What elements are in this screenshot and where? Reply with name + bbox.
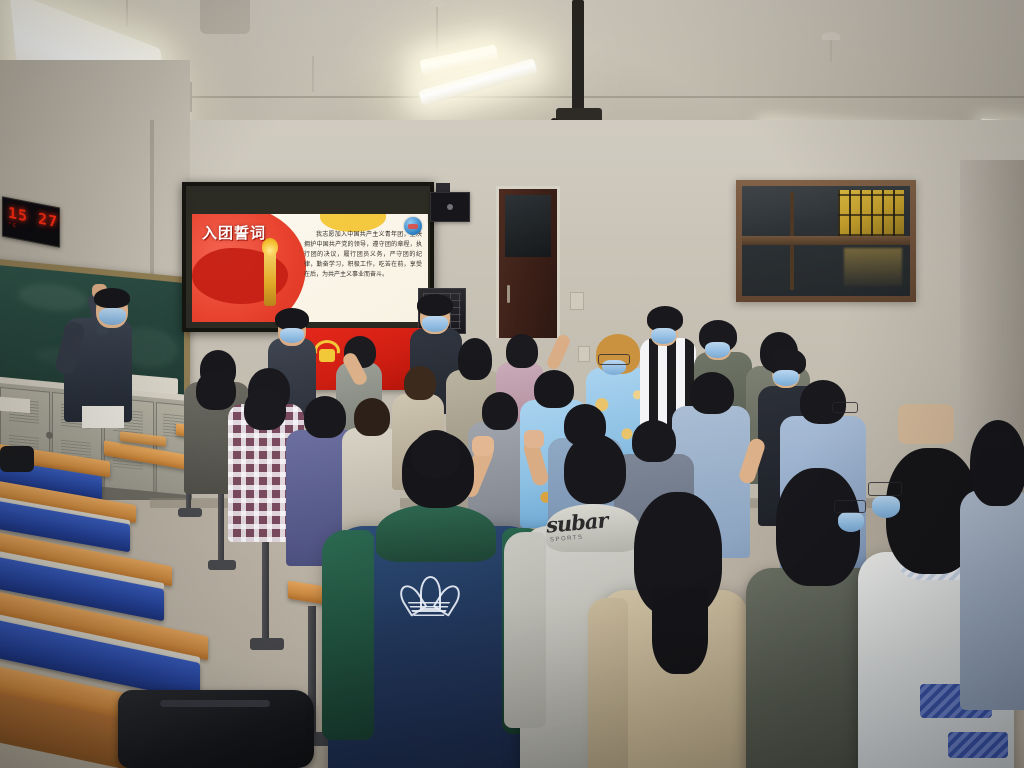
desk-foot: [178, 508, 202, 517]
backpack-zipper: [160, 700, 270, 707]
slide-oath-text: 我志愿加入中国共产主义青年团，坚决拥护中国共产党的领导，遵守团的章程，执行团的决…: [304, 230, 422, 280]
screen-surface: 入团誓词 我志愿加入中国共产主义青年团，坚决拥护中国共产党的领导，遵守团的章程，…: [186, 186, 430, 328]
light-cap: [822, 32, 840, 40]
light-cap: [430, 0, 444, 7]
jacket-hood: [376, 504, 496, 562]
student-hair-ponytail: [354, 398, 390, 436]
slide-torch: [264, 248, 276, 306]
bag-on-desk: [0, 446, 34, 472]
youth-league-emblem-icon: [404, 217, 422, 235]
student-hair: [970, 420, 1024, 506]
classroom-photo: EPSON 15 27 °C: [0, 0, 1024, 768]
jacket-green-sleeve-left: [322, 530, 374, 740]
classroom-door[interactable]: [499, 189, 557, 338]
student-hair: [632, 420, 676, 462]
slide-title: 入团誓词: [202, 222, 266, 243]
face-mask: [422, 316, 448, 332]
hair-ponytail: [652, 588, 708, 674]
student-hair: [304, 396, 346, 438]
door-handle[interactable]: [507, 285, 510, 303]
student-jacket: [960, 490, 1024, 710]
face-mask: [838, 512, 864, 532]
jacket-sleeve-left: [504, 532, 546, 728]
desk-foot: [250, 638, 284, 650]
face-mask: [651, 328, 676, 344]
student-shoulder: [898, 404, 954, 444]
student-hair: [506, 334, 538, 368]
coat-sleeve-left: [588, 598, 628, 768]
windbreaker-blue-panel: [948, 732, 1008, 758]
glasses: [868, 482, 902, 496]
light-stem: [126, 0, 128, 26]
clock-unit: °C: [8, 222, 18, 230]
student-hair: [412, 430, 460, 478]
wall-speaker: [430, 192, 470, 222]
classroom-door-frame: [496, 186, 560, 338]
light-stem: [436, 4, 438, 54]
window-rail: [742, 236, 910, 245]
glasses: [834, 500, 866, 513]
glasses: [832, 402, 858, 413]
desk-foot: [208, 560, 236, 570]
face-mask: [280, 328, 304, 343]
wall-outlet[interactable]: [578, 346, 590, 362]
door-glass-pane: [505, 195, 551, 257]
projector-pole: [572, 0, 584, 118]
student-hair: [417, 294, 453, 316]
student-hair-long: [458, 338, 492, 380]
raised-fist: [524, 430, 544, 448]
student-hair: [690, 372, 734, 414]
student-hair: [564, 434, 626, 504]
face-mask: [773, 370, 799, 386]
exterior-window: [736, 180, 916, 302]
face-mask: [705, 342, 730, 358]
wall-switch[interactable]: [570, 292, 584, 310]
face-mask: [872, 496, 900, 518]
presentation-slide: 入团誓词 我志愿加入中国共产主义青年团，坚决拥护中国共产党的领导，遵守团的章程，…: [192, 214, 428, 322]
desk-leg: [262, 534, 269, 644]
locker-handle[interactable]: [46, 431, 53, 439]
jacket-script-logo: subar: [545, 507, 608, 537]
student-hair: [275, 308, 309, 330]
teacher-face-mask: [99, 308, 126, 325]
flag-emblem-icon: [314, 340, 340, 362]
window-exterior-view: [838, 190, 904, 236]
window-security-bars: [838, 190, 904, 236]
light-stem: [190, 82, 192, 112]
student-hair: [482, 392, 518, 430]
projection-screen: 入团誓词 我志愿加入中国共产主义青年团，坚决拥护中国共产党的领导，遵守团的章程，…: [182, 182, 434, 332]
light-fixture-housing: [200, 0, 250, 34]
teacher-hair: [94, 288, 130, 308]
student-hair: [534, 370, 574, 408]
student-hair: [404, 366, 436, 400]
teacher-shirt-hem: [82, 406, 124, 428]
raised-fist: [472, 436, 494, 456]
window-reflection: [844, 248, 902, 286]
adidas-trefoil-logo-icon: [398, 576, 460, 624]
student-hair: [244, 388, 286, 430]
glasses: [598, 354, 630, 365]
student-hair: [196, 370, 236, 410]
light-stem: [312, 56, 314, 92]
desk-equipment: [0, 397, 30, 414]
chalk-smudge: [18, 281, 88, 314]
